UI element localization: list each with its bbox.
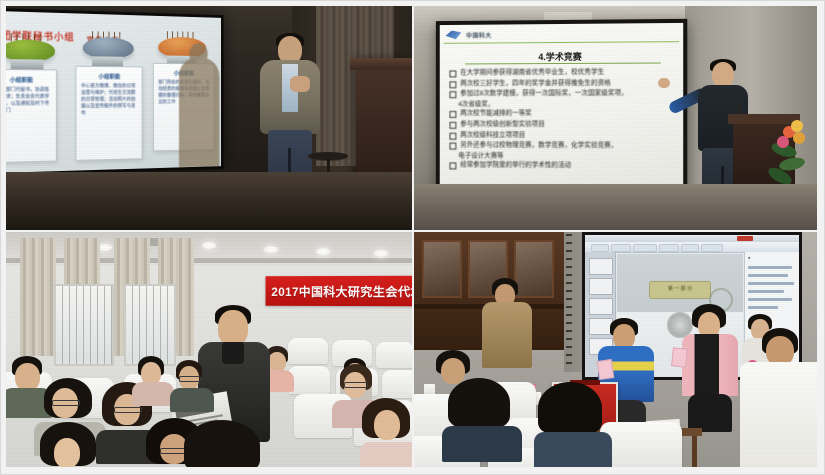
event-banner: 2017中国科大研究生会代培生 xyxy=(266,276,412,306)
audience-member xyxy=(174,360,210,404)
audience-member-foreground xyxy=(744,328,817,467)
bullet-box-icon xyxy=(450,143,457,150)
bullet-text: 两次校级科技立项项目 xyxy=(460,131,525,140)
audience-member xyxy=(448,378,520,456)
projection-screen: 中国科大 4.学术竞赛 在大学期间参获得湖南省优秀毕业生，校优秀学生 两次校三好… xyxy=(440,23,683,203)
photo-collage: 团学联秘书小组 宣传小组 小组职能 负责各部门代秘书 xyxy=(0,0,825,475)
slide-bullet: 参加过8次数学建模，获得一次国际奖，一次国家级奖项， xyxy=(450,89,678,99)
slide-bullet: 两次校三好学生，四年的奖学金并获得推免生的资格 xyxy=(450,78,678,88)
panel-bottom-right[interactable]: 第 一 部 分 ● xyxy=(414,232,817,467)
head xyxy=(374,410,400,440)
ceiling-light xyxy=(316,248,330,255)
slide-bullet: 两次校节能减排的一等奖 xyxy=(450,109,678,118)
curtain xyxy=(20,238,56,356)
background-person xyxy=(482,278,532,370)
wall-perforation xyxy=(566,234,572,364)
university-logo-icon xyxy=(446,30,462,39)
eyeglasses xyxy=(179,376,201,382)
slide-card-body: 负责各部门代秘书，协调各部门需求；负责会务代表学生会谈，以及通知及时下传到各部门 xyxy=(6,87,52,115)
head xyxy=(15,363,40,391)
speaker-collar xyxy=(222,342,244,364)
photo-audience-q-and-a: 2017中国科大研究生会代培生 xyxy=(6,232,412,467)
slide-bullet-continuation: 4次省级奖， xyxy=(458,100,677,109)
panel-bottom-left[interactable]: 2017中国科大研究生会代培生 xyxy=(6,232,412,467)
ribbon-tab[interactable] xyxy=(591,244,609,252)
flower-petal xyxy=(793,132,805,144)
ceiling-light xyxy=(264,246,278,253)
bullet-box-icon xyxy=(450,133,457,140)
chair xyxy=(376,342,412,368)
window-bars xyxy=(126,286,174,364)
hair xyxy=(448,378,510,428)
flower-petal xyxy=(791,120,803,132)
presenter-hands xyxy=(290,76,310,92)
projection-screen: 团学联秘书小组 宣传小组 小组职能 负责各部门代秘书 xyxy=(6,11,221,173)
ribbon-tab[interactable] xyxy=(681,244,699,252)
trousers xyxy=(688,394,732,432)
slide-badge-text: 第 一 部 分 xyxy=(650,285,710,292)
slide-card: 小组职能 负责各部门代秘书，协调各部门需求；负责会务代表学生会谈，以及通知及时下… xyxy=(6,69,57,163)
bullet-text: 另外还参与过校物理竞赛，数学竞赛，化学实验竞赛， xyxy=(460,141,617,151)
bullet-text: 经常参加学院里的举行的学术性的活动 xyxy=(460,161,571,171)
audience-member xyxy=(184,420,266,467)
task-pane-line xyxy=(748,274,788,277)
vest-and-hoodie xyxy=(682,334,738,396)
body xyxy=(132,382,174,406)
slide-card-heading: 小组职能 xyxy=(6,75,56,84)
ribbon-tab[interactable] xyxy=(701,244,723,252)
ballot-slip xyxy=(597,359,614,380)
ceiling-light xyxy=(374,250,388,257)
presenter-shadow xyxy=(179,58,219,168)
stage-floor xyxy=(6,172,412,230)
slide-logo-bar: 中国科大 xyxy=(446,29,492,41)
audience-member xyxy=(136,356,170,396)
slide-bullet: 另外还参与过校物理竞赛，数学竞赛，化学实验竞赛， xyxy=(450,141,678,151)
photo-presentation-dark-auditorium: 团学联秘书小组 宣传小组 小组职能 负责各部门代秘书 xyxy=(6,6,412,230)
bullet-text: 参加过8次数学建模，获得一次国际奖，一次国家级奖项， xyxy=(460,89,628,99)
projection-screen-frame: 团学联秘书小组 宣传小组 小组职能 负责各部门代秘书 xyxy=(6,8,224,176)
window-bars xyxy=(56,286,112,364)
app-accent-button xyxy=(737,236,753,241)
flower-arrangement xyxy=(769,118,817,190)
slide-pedestal xyxy=(92,56,123,66)
panel-top-left[interactable]: 团学联秘书小组 宣传小组 小组职能 负责各部门代秘书 xyxy=(6,6,412,230)
ballot-slip xyxy=(671,347,688,367)
ribbon-tab[interactable] xyxy=(611,244,631,252)
task-pane-line xyxy=(748,298,792,301)
ribbon-tab[interactable] xyxy=(659,244,679,252)
slide-thumbnail[interactable] xyxy=(589,278,613,295)
body xyxy=(482,302,532,368)
chair xyxy=(600,422,682,467)
slide-bullet: 在大学期间参获得湖南省优秀毕业生，校优秀学生 xyxy=(450,67,678,77)
body xyxy=(534,432,612,467)
slide-title-badge: 第 一 部 分 xyxy=(649,281,711,299)
bullet-box-icon xyxy=(450,163,457,170)
panel-top-right[interactable]: 中国科大 4.学术竞赛 在大学期间参获得湖南省优秀毕业生，校优秀学生 两次校三好… xyxy=(414,6,817,230)
slide-title-underline xyxy=(465,62,661,64)
cabinet-glass-door xyxy=(422,240,462,298)
bullet-box-icon xyxy=(450,122,457,129)
speaker-head xyxy=(218,310,248,346)
body xyxy=(170,388,214,412)
task-pane-title: ● xyxy=(748,255,750,260)
voting-organizer xyxy=(682,304,738,432)
lectern-top xyxy=(350,58,412,70)
audience-member xyxy=(362,398,412,458)
slide-bullet: 参与两次校级创新型实验项目 xyxy=(450,120,678,129)
app-titlebar xyxy=(585,235,799,242)
slide-card-heading: 小组职能 xyxy=(76,72,141,81)
eyeglasses xyxy=(52,400,80,406)
chair xyxy=(288,338,328,364)
presenter-hand-left xyxy=(658,78,670,88)
bullet-text: 两次校节能减排的一等奖 xyxy=(460,109,531,118)
task-pane-line xyxy=(748,266,792,269)
audience-member xyxy=(538,382,610,467)
bullet-box-icon xyxy=(450,111,457,118)
event-banner-text: 2017中国科大研究生会代培生 xyxy=(266,282,412,299)
task-pane-line xyxy=(748,282,794,285)
university-logo-text: 中国科大 xyxy=(466,30,492,39)
bullet-box-icon xyxy=(450,81,457,88)
slide-bullet: 两次校级科技立项项目 xyxy=(450,131,678,141)
floor xyxy=(414,184,817,230)
head xyxy=(54,438,80,467)
photo-ballot-voting-session: 第 一 部 分 ● xyxy=(414,232,817,467)
slide-top-rule xyxy=(444,41,679,44)
table-leg xyxy=(692,436,697,467)
slide-hill-blue xyxy=(83,37,134,59)
slide-card-body: 中心官方微博、微信的日常运营与维护；代培生交流群的日常管理；活动照片的拍摄以及宣… xyxy=(81,83,138,117)
slide-card: 小组职能 中心官方微博、微信的日常运营与维护；代培生交流群的日常管理；活动照片的… xyxy=(76,66,143,161)
body xyxy=(740,362,817,467)
photo-academic-competition-slide: 中国科大 4.学术竞赛 在大学期间参获得湖南省优秀毕业生，校优秀学生 两次校三好… xyxy=(414,6,817,230)
slide-thumbnail[interactable] xyxy=(589,298,613,315)
collage-grid: 团学联秘书小组 宣传小组 小组职能 负责各部门代秘书 xyxy=(6,6,817,467)
window xyxy=(54,284,114,366)
slide-thumbnail[interactable] xyxy=(589,258,613,275)
task-pane-line xyxy=(748,290,784,293)
bullet-text: 两次校三好学生，四年的奖学金并获得推免生的资格 xyxy=(460,79,611,89)
bullet-text: 参与两次校级创新型实验项目 xyxy=(460,120,545,129)
task-pane-line xyxy=(748,306,778,309)
slide-pedestal xyxy=(11,59,44,69)
body xyxy=(360,442,412,467)
ceiling-light xyxy=(202,242,216,249)
flower-petal xyxy=(777,136,789,148)
body xyxy=(442,426,522,462)
ceiling-light xyxy=(98,244,112,251)
chair xyxy=(288,366,330,394)
chair xyxy=(382,370,412,398)
window xyxy=(124,284,176,366)
bullet-box-icon xyxy=(450,70,457,77)
eyeglasses xyxy=(344,382,368,388)
bullet-box-icon xyxy=(450,92,457,99)
projection-screen-frame: 中国科大 4.学术竞赛 在大学期间参获得湖南省优秀毕业生，校优秀学生 两次校三好… xyxy=(436,19,687,207)
slide-title: 4.学术竞赛 xyxy=(440,49,683,63)
hair xyxy=(184,420,260,467)
slide-bullet-list: 在大学期间参获得湖南省优秀毕业生，校优秀学生 两次校三好学生，四年的奖学金并获得… xyxy=(450,67,678,172)
hair xyxy=(538,382,602,434)
eyeglasses xyxy=(114,407,142,413)
audience-member xyxy=(40,422,102,467)
bullet-text: 在大学期间参获得湖南省优秀毕业生，校优秀学生 xyxy=(460,68,604,78)
slide-bullet: 经常参加学院里的举行的学术性的活动 xyxy=(450,161,678,171)
ribbon-tab[interactable] xyxy=(633,244,657,252)
